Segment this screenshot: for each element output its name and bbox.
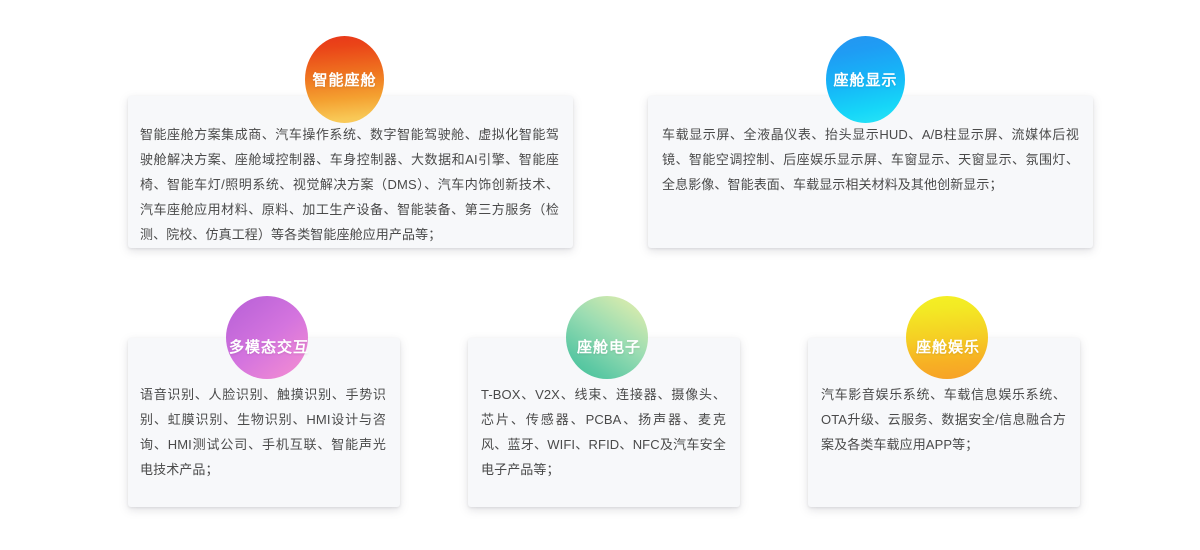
badge-cockpit-display-label: 座舱显示 [833,73,897,88]
badge-smart-cockpit[interactable]: 智能座舱 [305,36,384,123]
badge-multimodal-interaction[interactable]: 多模态交互 [226,296,308,379]
badge-cockpit-entertainment[interactable]: 座舱娱乐 [906,296,988,379]
badge-cockpit-electronics-label: 座舱电子 [577,340,641,355]
card-cockpit-electronics-description: T-BOX、V2X、线束、连接器、摄像头、芯片、传感器、PCBA、扬声器、麦克风… [481,382,726,482]
card-multimodal-interaction-description: 语音识别、人脸识别、触摸识别、手势识别、虹膜识别、生物识别、HMI设计与咨询、H… [140,382,386,482]
card-cockpit-entertainment-description: 汽车影音娱乐系统、车载信息娱乐系统、OTA升级、云服务、数据安全/信息融合方案及… [821,382,1066,457]
card-smart-cockpit-description: 智能座舱方案集成商、汽车操作系统、数字智能驾驶舱、虚拟化智能驾驶舱解决方案、座舱… [140,122,559,247]
badge-cockpit-display[interactable]: 座舱显示 [826,36,905,123]
badge-cockpit-entertainment-label: 座舱娱乐 [916,340,980,355]
badge-smart-cockpit-label: 智能座舱 [312,73,376,88]
card-cockpit-display-description: 车载显示屏、全液晶仪表、抬头显示HUD、A/B柱显示屏、流媒体后视镜、智能空调控… [662,122,1079,197]
category-board: 智能座舱方案集成商、汽车操作系统、数字智能驾驶舱、虚拟化智能驾驶舱解决方案、座舱… [0,0,1200,550]
badge-multimodal-interaction-label: 多模态交互 [229,340,309,355]
badge-cockpit-electronics[interactable]: 座舱电子 [566,296,648,379]
